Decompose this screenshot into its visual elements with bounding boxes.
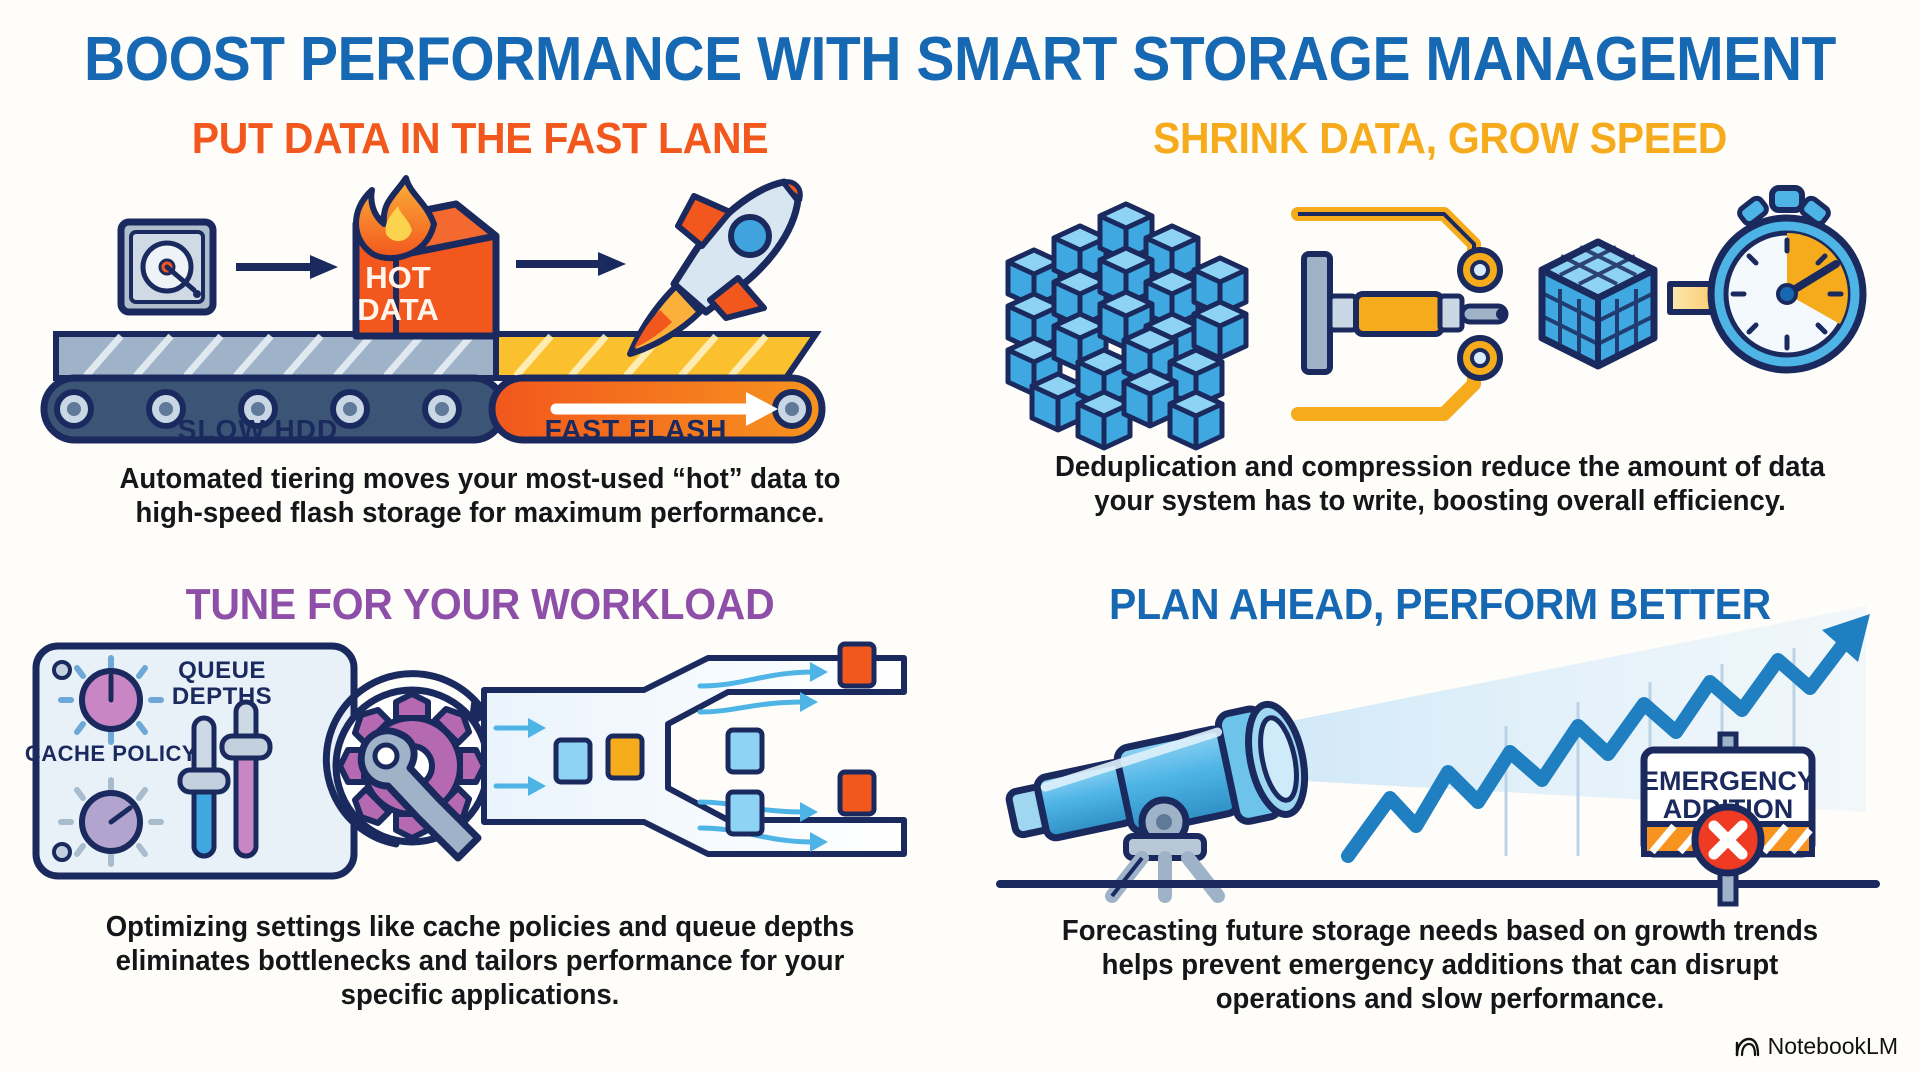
panel-tiering-art: HOT DATA: [26, 164, 934, 444]
telescope-icon: [1001, 699, 1314, 896]
panel-dedup-description: Deduplication and compression reduce the…: [1009, 450, 1872, 518]
panel-grid: PUT DATA IN THE FAST LANE: [0, 100, 1920, 1072]
panel-tiering-heading: PUT DATA IN THE FAST LANE: [58, 114, 902, 164]
panel-dedup-art: [986, 164, 1894, 432]
cache-policy-label: CACHE POLICY: [25, 741, 197, 766]
arrow-right-icon: [236, 255, 338, 279]
panel-forecast: PLAN AHEAD, PERFORM BETTER: [960, 566, 1920, 1072]
rocket-icon: [630, 182, 800, 354]
panel-forecast-art: EMERGENCY ADDITION: [986, 630, 1894, 900]
panel-forecast-description: Forecasting future storage needs based o…: [1009, 914, 1872, 1017]
page-title: BOOST PERFORMANCE WITH SMART STORAGE MAN…: [77, 24, 1843, 95]
data-flow-icon: [484, 644, 904, 854]
flame-icon: [356, 178, 434, 258]
control-panel-icon: CACHE POLICY: [25, 646, 354, 876]
panel-tuning: TUNE FOR YOUR WORKLOAD: [0, 566, 960, 1072]
panel-tiering-description: Automated tiering moves your most-used “…: [49, 462, 912, 530]
panel-dedup: SHRINK DATA, GROW SPEED: [960, 100, 1920, 566]
hot-data-label-line1: HOT: [365, 260, 431, 295]
queue-depths-label-line2: DEPTHS: [172, 683, 272, 710]
arrow-right-icon: [516, 252, 626, 276]
hot-data-box-icon: HOT DATA: [356, 178, 496, 336]
stopwatch-icon: [1711, 188, 1863, 370]
hydraulic-press-icon: [1298, 214, 1508, 414]
notebooklm-icon: [1734, 1036, 1760, 1058]
hot-data-label-line2: DATA: [357, 292, 439, 327]
infographic-page: BOOST PERFORMANCE WITH SMART STORAGE MAN…: [0, 0, 1920, 1072]
panel-dedup-heading: SHRINK DATA, GROW SPEED: [1018, 114, 1862, 164]
hard-disk-icon: [121, 222, 213, 312]
panel-tuning-description: Optimizing settings like cache policies …: [49, 910, 912, 1013]
warning-sign-icon: EMERGENCY ADDITION: [1641, 734, 1815, 904]
watermark: NotebookLM: [1734, 1033, 1898, 1060]
sign-label-line1: EMERGENCY: [1641, 766, 1815, 796]
panel-tuning-art: CACHE POLICY: [26, 630, 934, 900]
red-x-icon: [1695, 807, 1761, 873]
watermark-label: NotebookLM: [1768, 1033, 1898, 1060]
compact-cube-icon: [1542, 242, 1654, 366]
panel-tuning-heading: TUNE FOR YOUR WORKLOAD: [58, 580, 902, 630]
panel-tiering: PUT DATA IN THE FAST LANE: [0, 100, 960, 566]
cube-cluster-icon: [1008, 204, 1246, 448]
fast-flash-label: FAST FLASH: [545, 414, 728, 445]
queue-depths-label-line1: QUEUE: [178, 657, 266, 684]
panel-forecast-heading: PLAN AHEAD, PERFORM BETTER: [1018, 580, 1862, 630]
slow-hdd-label: SLOW HDD: [178, 414, 338, 445]
